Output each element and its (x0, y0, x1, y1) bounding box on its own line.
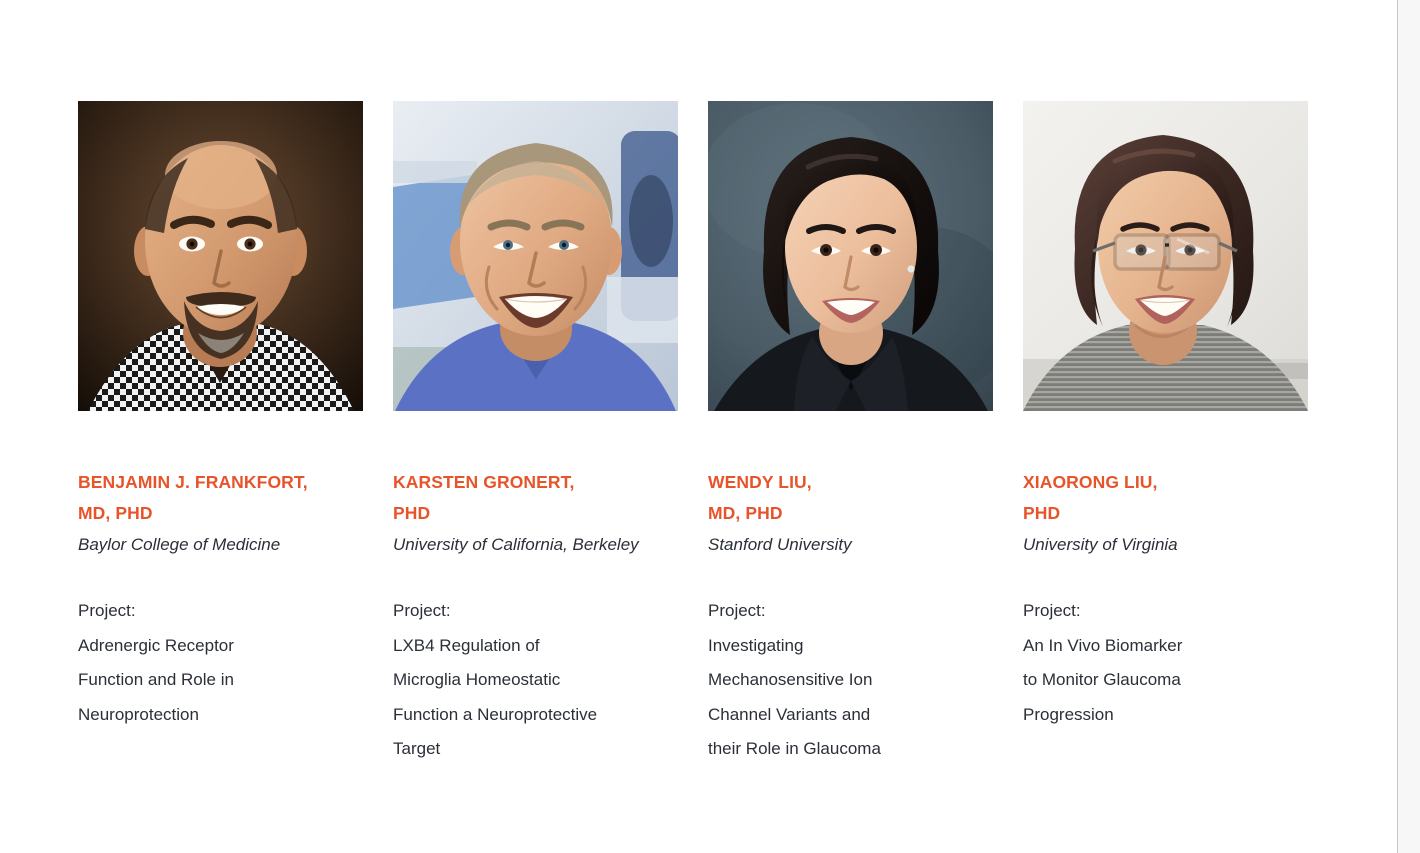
researcher-photo (1023, 101, 1308, 411)
researcher-project: Project: Investigating Mechanosensitive … (708, 594, 993, 767)
researcher-info: Karsten Gronert, PhD University of Calif… (393, 411, 678, 767)
researcher-name: Xiaorong Liu, PhD (1023, 467, 1308, 529)
researcher-institution: Baylor College of Medicine (78, 531, 363, 558)
researcher-grid: Benjamin J. Frankfort, MD, PhD Baylor Co… (78, 101, 1316, 767)
researcher-institution: University of California, Berkeley (393, 531, 678, 558)
researcher-project: Project: LXB4 Regulation of Microglia Ho… (393, 594, 678, 767)
researcher-project: Project: An In Vivo Biomarker to Monitor… (1023, 594, 1308, 732)
researcher-info: Wendy Liu, MD, PhD Stanford University P… (708, 411, 993, 767)
researcher-photo (393, 101, 678, 411)
researcher-institution: Stanford University (708, 531, 993, 558)
researcher-info: Benjamin J. Frankfort, MD, PhD Baylor Co… (78, 411, 363, 732)
researcher-info: Xiaorong Liu, PhD University of Virginia… (1023, 411, 1308, 732)
researcher-project: Project: Adrenergic Receptor Function an… (78, 594, 363, 732)
researcher-card: Wendy Liu, MD, PhD Stanford University P… (708, 101, 993, 767)
researcher-photo (78, 101, 363, 411)
researcher-photo (708, 101, 993, 411)
researcher-institution: University of Virginia (1023, 531, 1308, 558)
researcher-card: Xiaorong Liu, PhD University of Virginia… (1023, 101, 1308, 767)
page-content: Benjamin J. Frankfort, MD, PhD Baylor Co… (0, 0, 1397, 853)
researcher-name: Benjamin J. Frankfort, MD, PhD (78, 467, 363, 529)
researcher-name: Wendy Liu, MD, PhD (708, 467, 993, 529)
researcher-card: Benjamin J. Frankfort, MD, PhD Baylor Co… (78, 101, 363, 767)
researcher-name: Karsten Gronert, PhD (393, 467, 678, 529)
researcher-card: Karsten Gronert, PhD University of Calif… (393, 101, 678, 767)
vertical-scrollbar[interactable] (1397, 0, 1420, 853)
